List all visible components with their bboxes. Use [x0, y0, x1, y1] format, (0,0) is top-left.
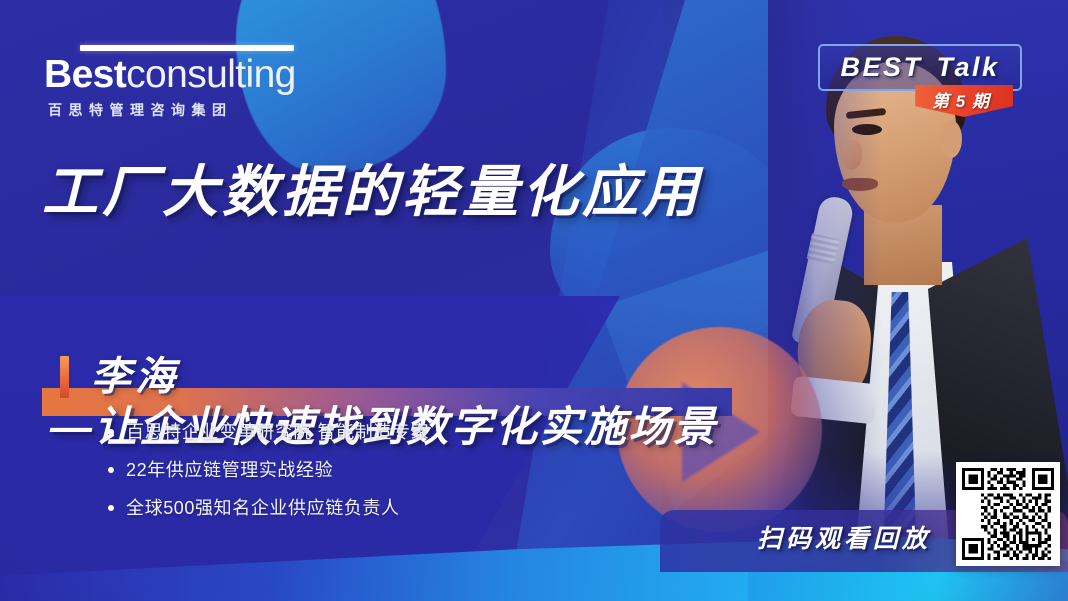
credential-text: 百思特企业变革研究院 智能制造专家 — [126, 421, 429, 443]
logo-word-consulting: consulting — [126, 53, 296, 96]
credential-text: 全球500强知名企业供应链负责人 — [126, 497, 400, 519]
promo-poster: Bestconsulting 百思特管理咨询集团 BESTTalk 第 5 期 … — [0, 0, 1068, 601]
logo-rule-icon — [80, 45, 294, 51]
bullet-dot-icon — [108, 429, 114, 435]
list-item: 22年供应链管理实战经验 — [108, 459, 429, 481]
page-title: 工厂大数据的轻量化应用 — [42, 160, 782, 224]
bullet-dot-icon — [108, 467, 114, 473]
brand-logo: Bestconsulting 百思特管理咨询集团 — [44, 45, 294, 120]
qr-code[interactable] — [956, 462, 1060, 566]
logo-chinese-name: 百思特管理咨询集团 — [48, 100, 294, 120]
credential-text: 22年供应链管理实战经验 — [126, 459, 333, 481]
speaker-info: 李海 百思特企业变革研究院 智能制造专家 22年供应链管理实战经验 全球500强… — [60, 355, 429, 535]
best-talk-badge: BESTTalk — [818, 44, 1022, 91]
list-item: 百思特企业变革研究院 智能制造专家 — [108, 421, 429, 443]
scan-label: 扫码观看回放 — [757, 524, 931, 554]
episode-label: 第 5 期 — [932, 87, 990, 112]
badge-word-talk: Talk — [936, 52, 999, 82]
title-block: 工厂大数据的轻量化应用 —让企业快速找到数字化实施场景 — [42, 160, 782, 224]
badge-word-best: BEST — [840, 52, 922, 82]
speaker-name: 李海 — [91, 355, 179, 399]
logo-word-best: Best — [44, 53, 126, 96]
name-accent-bar — [60, 356, 69, 398]
list-item: 全球500强知名企业供应链负责人 — [108, 497, 429, 519]
speaker-name-row: 李海 — [60, 355, 429, 399]
logo-wordmark: Bestconsulting — [44, 53, 294, 97]
speaker-credentials: 百思特企业变革研究院 智能制造专家 22年供应链管理实战经验 全球500强知名企… — [108, 421, 429, 519]
bullet-dot-icon — [108, 505, 114, 511]
badge-label: BESTTalk — [840, 52, 999, 83]
qr-code-icon — [962, 468, 1054, 560]
